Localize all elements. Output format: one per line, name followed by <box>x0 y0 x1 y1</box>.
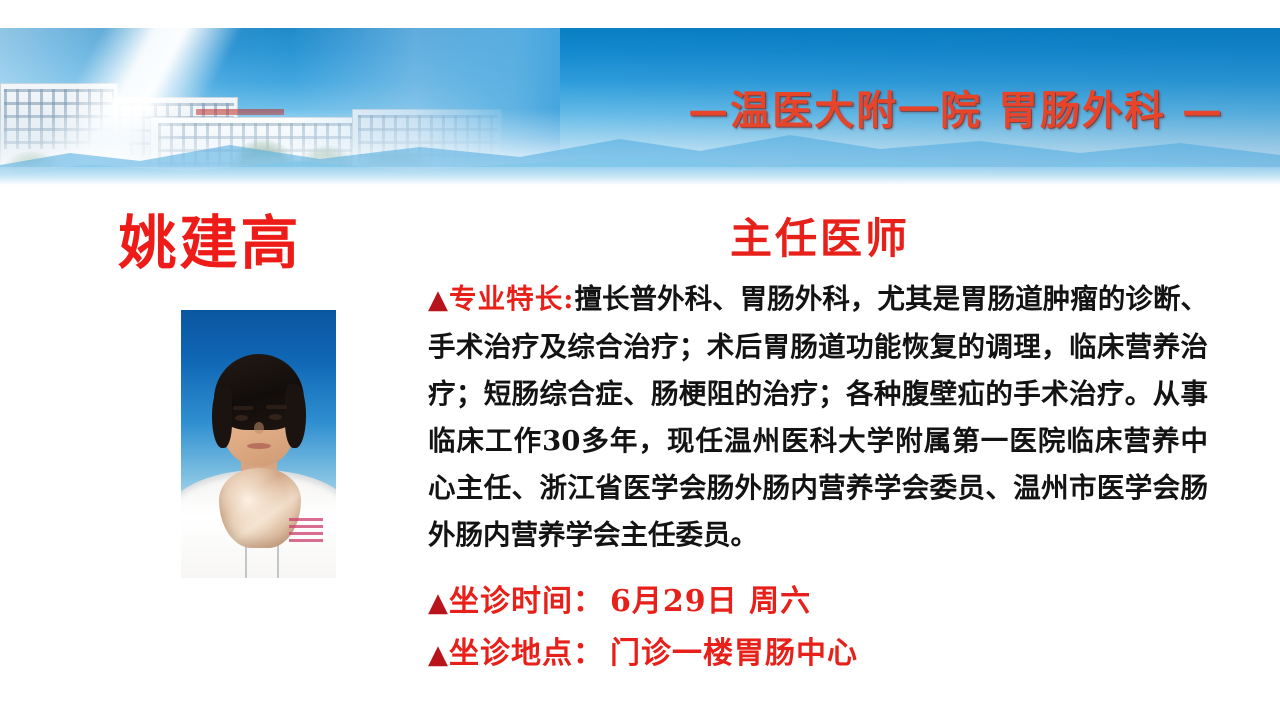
doctor-name: 姚建高 <box>0 196 420 280</box>
appointment-time-row: ▲坐诊时间：6月29日 周六 <box>428 576 811 620</box>
triangle-bullet-icon: ▲ <box>428 285 448 315</box>
specialty-section: ▲专业特长:擅长普外科、胃肠外科，尤其是胃肠道肿瘤的诊断、手术治疗及综合治疗；术… <box>428 276 1208 559</box>
specialty-text: 擅长普外科、胃肠外科，尤其是胃肠道肿瘤的诊断、手术治疗及综合治疗；术后胃肠道功能… <box>428 283 1208 551</box>
portrait-eye-left <box>235 415 248 421</box>
portrait-hair-right-side <box>285 384 306 448</box>
specialty-label: 专业特长: <box>449 283 574 315</box>
banner-title: —温医大附一院 胃肠外科 — <box>0 28 1280 185</box>
doctor-rank-title: 主任医师 <box>420 205 1220 266</box>
portrait-nose <box>254 422 264 434</box>
portrait-coat-badge <box>289 518 323 546</box>
appointment-place-label: 坐诊地点： <box>449 636 604 671</box>
doctor-portrait-photo <box>181 310 336 578</box>
portrait-eyebrow-right <box>266 405 287 409</box>
portrait-eye-right <box>269 414 282 420</box>
triangle-bullet-icon: ▲ <box>428 588 448 618</box>
header-banner: —温医大附一院 胃肠外科 — <box>0 28 1280 185</box>
appointment-time-label: 坐诊时间： <box>449 584 604 619</box>
portrait-eyebrow-left <box>233 406 253 410</box>
portrait-hair-left-side <box>212 386 232 448</box>
appointment-time-value: 6月29日 周六 <box>610 584 811 619</box>
appointment-place-row: ▲坐诊地点：门诊一楼胃肠中心 <box>428 628 858 672</box>
portrait-mouth <box>247 443 271 449</box>
triangle-bullet-icon: ▲ <box>428 640 448 670</box>
appointment-place-value: 门诊一楼胃肠中心 <box>610 636 858 671</box>
